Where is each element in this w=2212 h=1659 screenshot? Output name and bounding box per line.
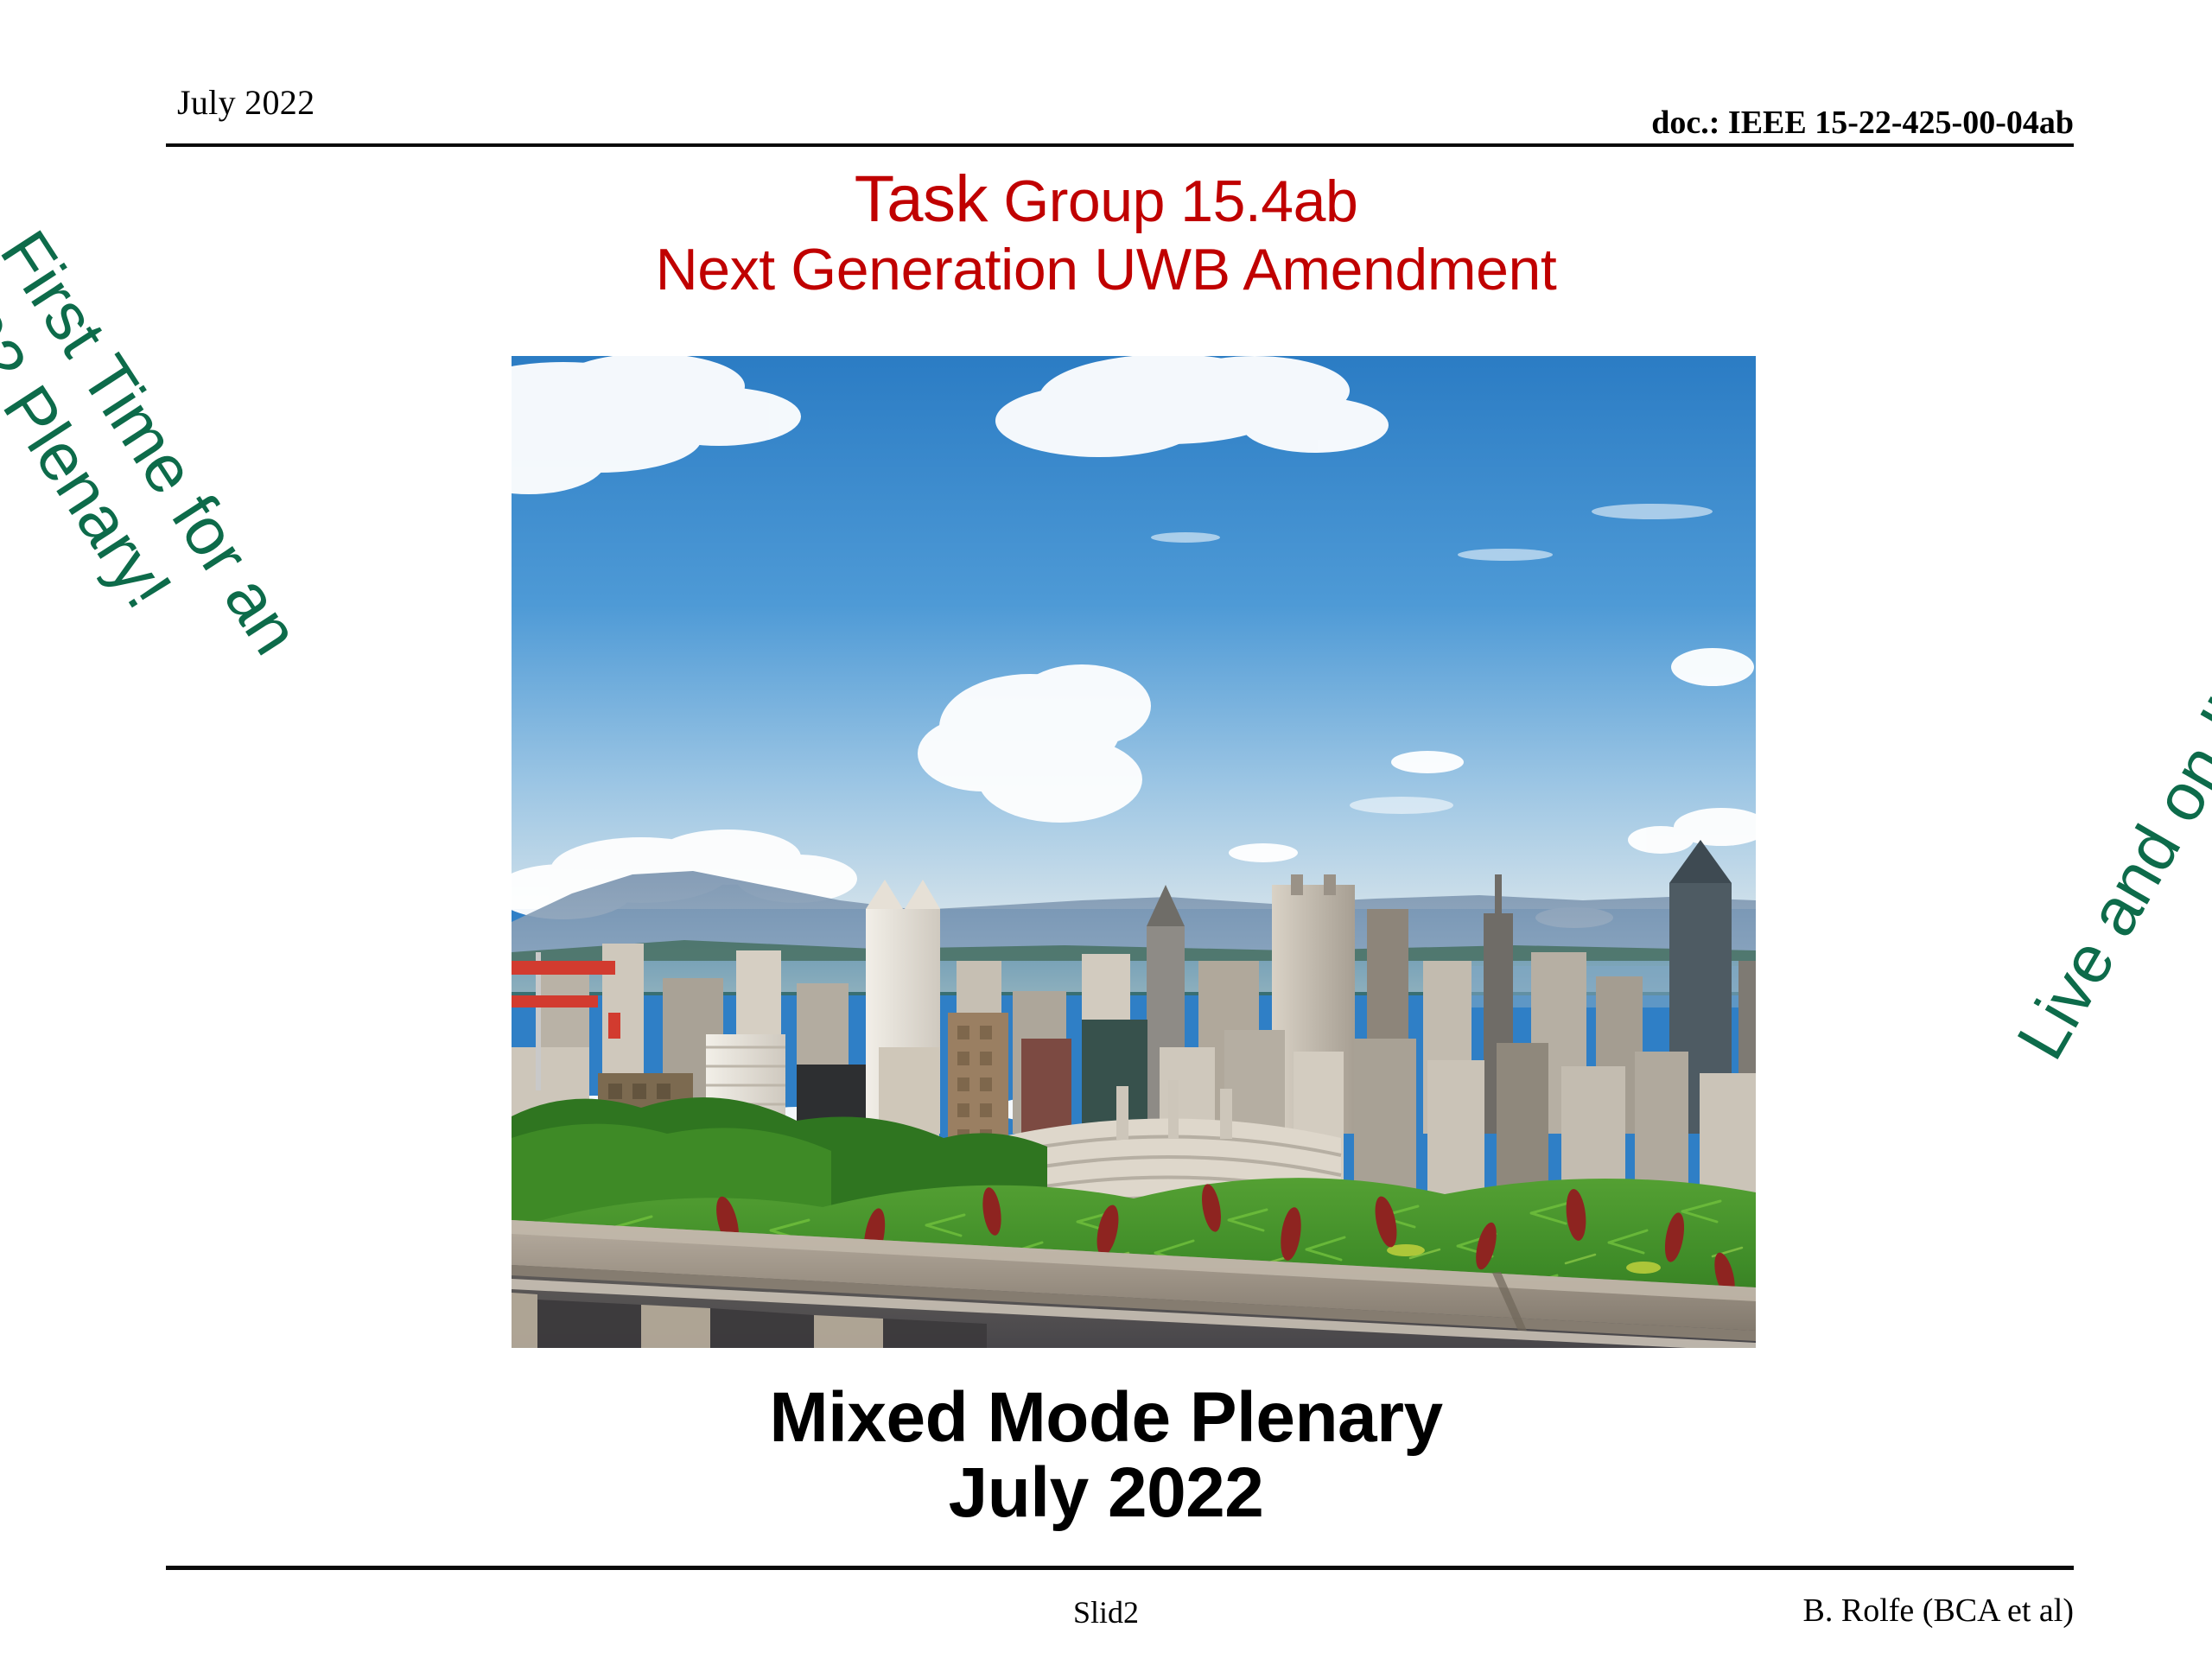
slide-title-lead-word: Task <box>855 162 988 236</box>
photo-artwork <box>512 356 1756 1348</box>
footer-rule <box>166 1566 2074 1570</box>
header-date: July 2022 <box>177 82 315 123</box>
annotation-live-and-online: Live and on-line! <box>2000 604 2212 1073</box>
slide-title-line-1-rest: Group 15.4ab <box>988 168 1357 234</box>
header-rule <box>166 143 2074 147</box>
slide-subtitle-line-2: July 2022 <box>0 1456 2212 1531</box>
header-document-id: doc.: IEEE 15-22-425-00-04ab <box>1651 104 2074 142</box>
slide-subtitle-line-1: Mixed Mode Plenary <box>0 1381 2212 1456</box>
montreal-skyline-photo <box>512 356 1756 1348</box>
slide-title: Task Group 15.4ab Next Generation UWB Am… <box>0 164 2212 302</box>
annotation-first-time-802-plenary: First Time for an 802 Plenary! <box>0 216 344 755</box>
slide-subtitle: Mixed Mode Plenary July 2022 <box>0 1381 2212 1531</box>
slide-title-line-2: Next Generation UWB Amendment <box>0 238 2212 302</box>
slide-title-line-1: Task Group 15.4ab <box>0 164 2212 235</box>
footer-author: B. Rolfe (BCA et al) <box>1803 1592 2074 1630</box>
